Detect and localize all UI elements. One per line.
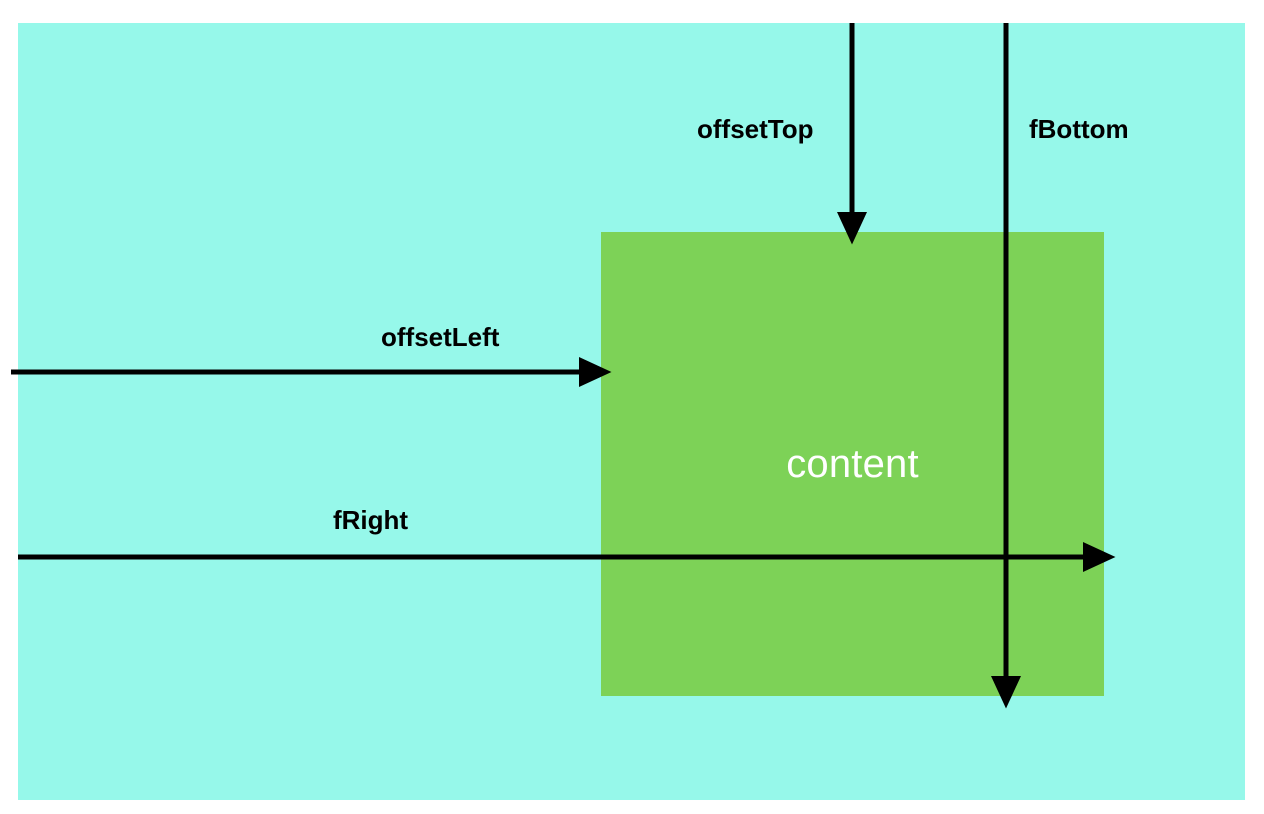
content-box-label: content xyxy=(601,232,1104,696)
diagram-canvas: content offsetTop fBottom offsetLeft fRi… xyxy=(0,0,1264,814)
f-bottom-label: fBottom xyxy=(1029,116,1129,142)
f-right-label: fRight xyxy=(333,507,408,533)
offset-left-label: offsetLeft xyxy=(381,324,499,350)
content-text: content xyxy=(786,442,919,487)
offset-top-label: offsetTop xyxy=(697,116,814,142)
